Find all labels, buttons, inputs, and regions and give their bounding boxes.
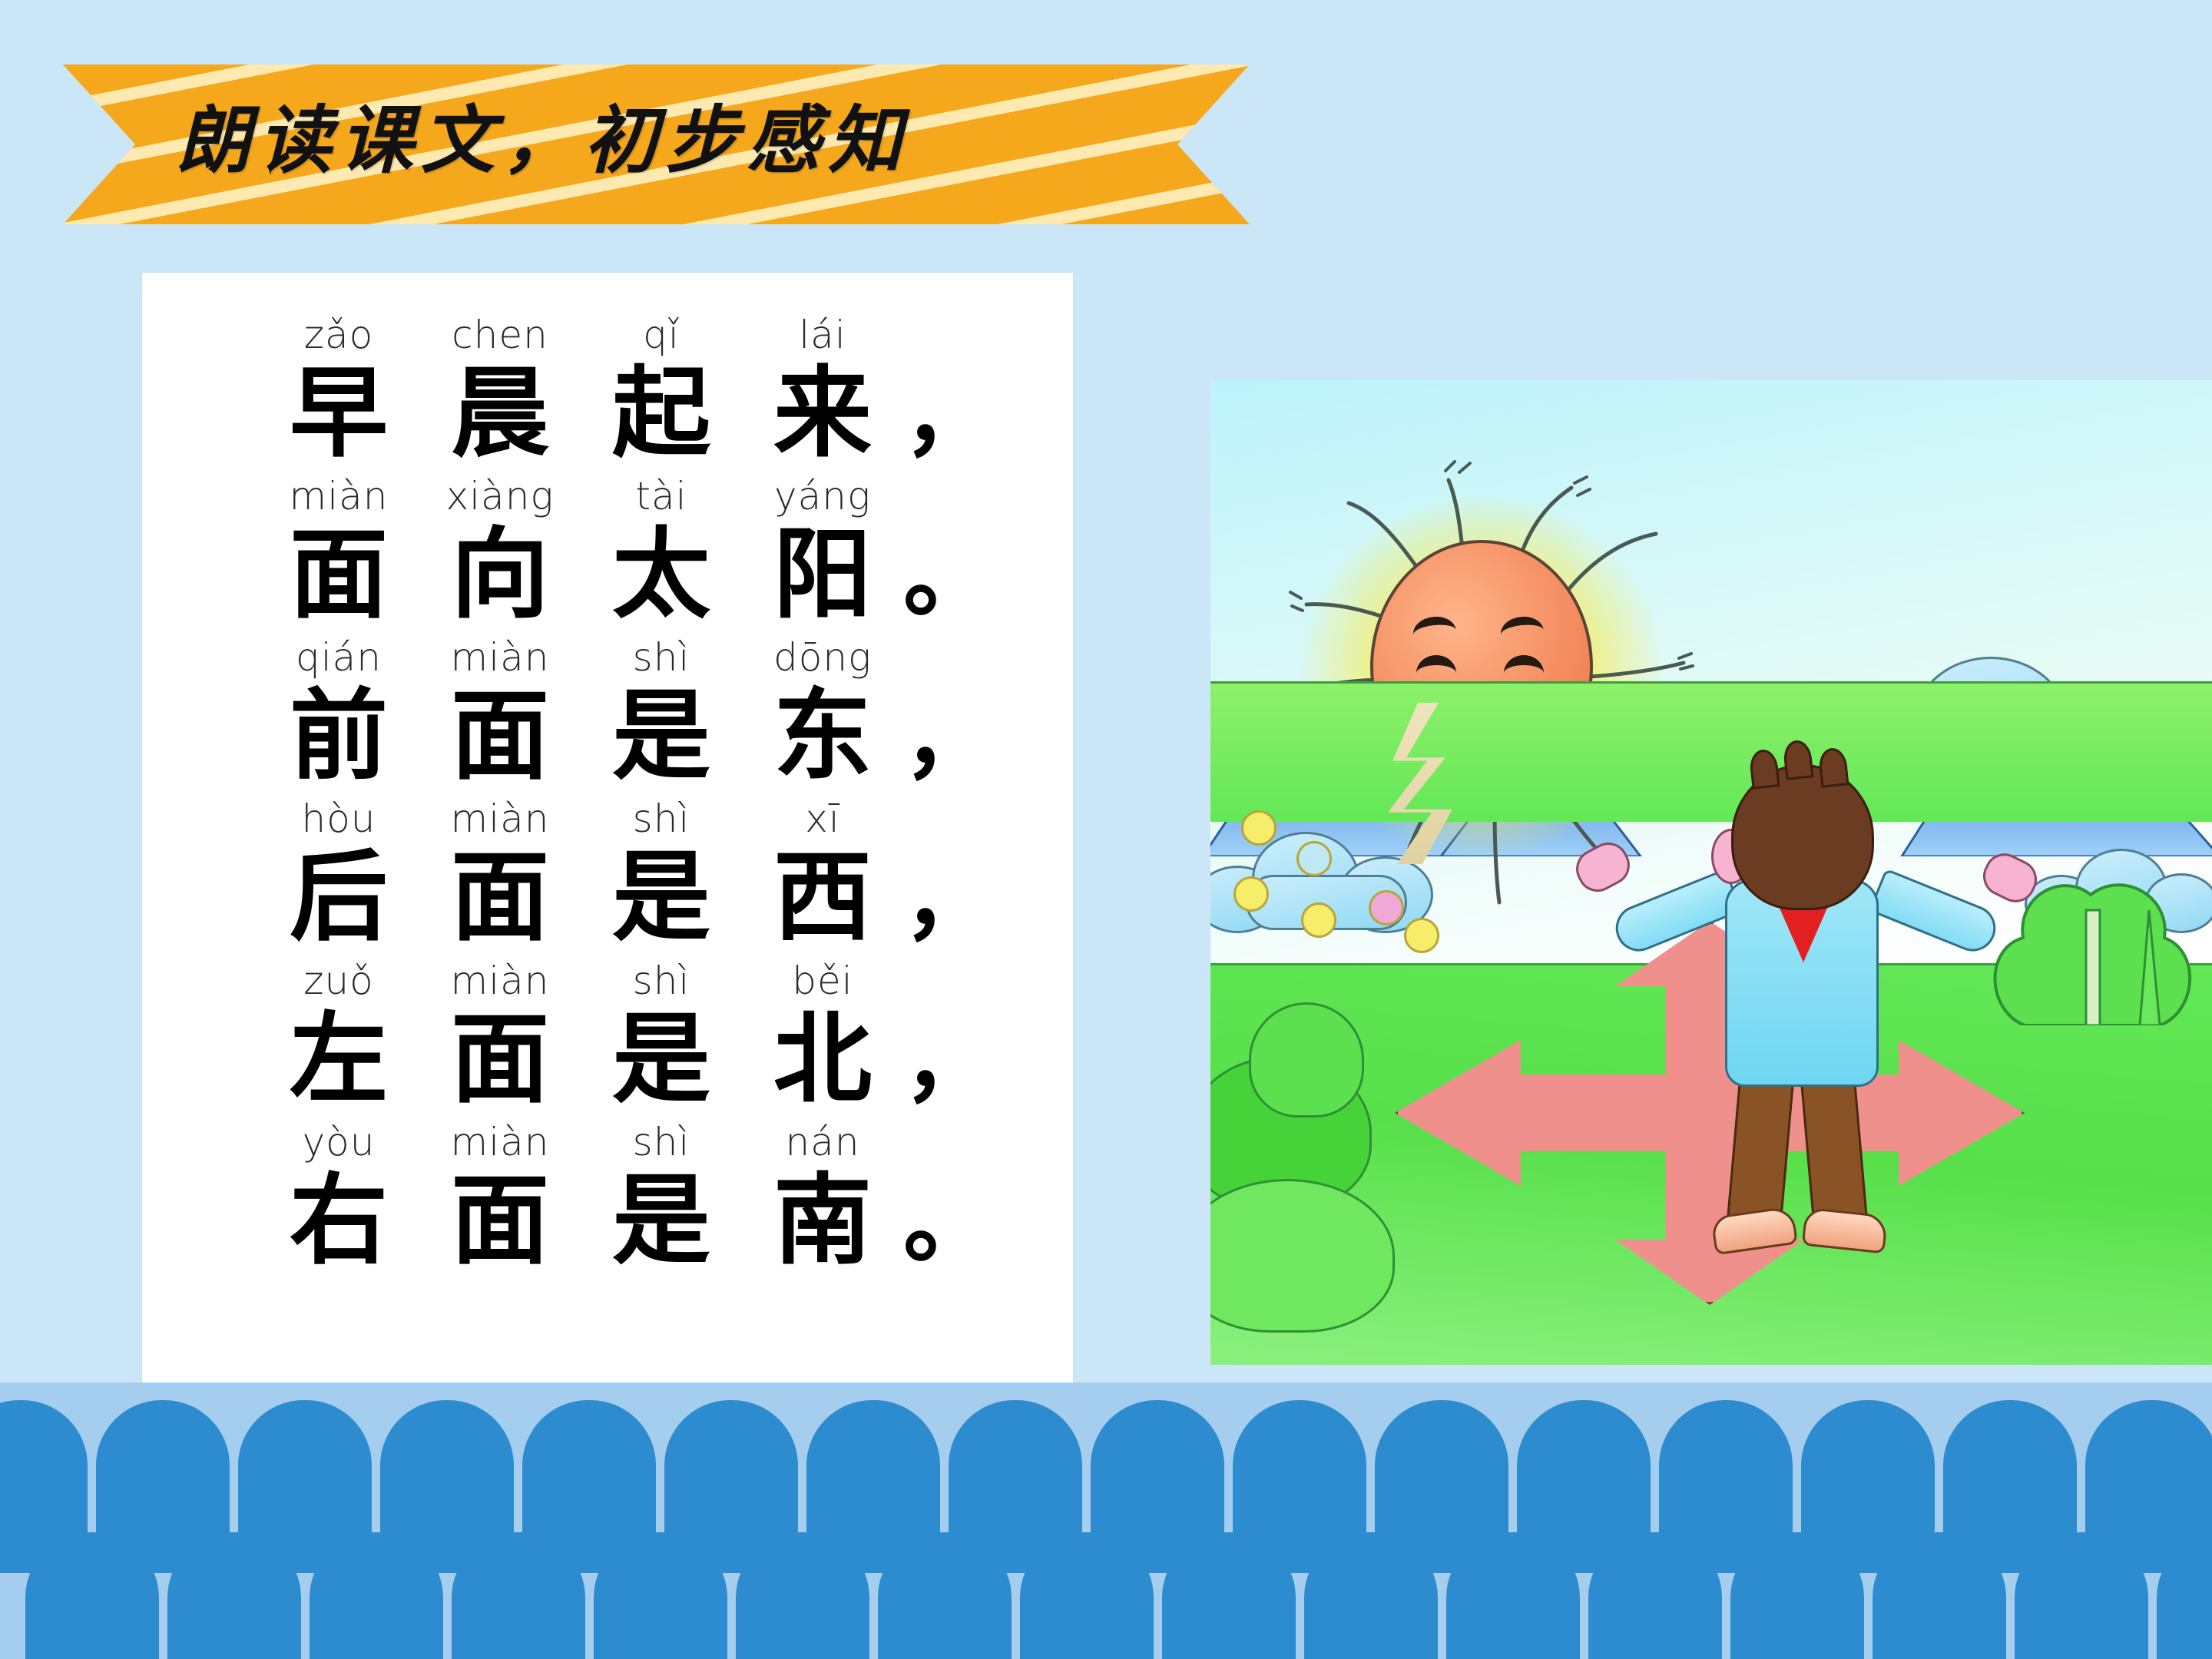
scallop-shape bbox=[1446, 1532, 1580, 1659]
hanzi-char: 右 bbox=[258, 1161, 419, 1281]
hanzi-char: 是 bbox=[581, 838, 742, 958]
pinyin-syllable: xī bbox=[742, 796, 903, 841]
hanzi-char: 晨 bbox=[419, 354, 581, 474]
boy-right-shoe bbox=[1802, 1207, 1889, 1253]
hanzi-char: 前 bbox=[258, 677, 419, 796]
bush bbox=[1249, 1002, 1364, 1118]
pinyin-syllable: miàn bbox=[258, 474, 419, 518]
scallop-shape bbox=[1873, 1532, 2006, 1659]
hanzi-char: 太 bbox=[581, 515, 742, 635]
illustration-image bbox=[1210, 380, 2212, 1365]
sun-left-brow bbox=[1412, 614, 1458, 651]
verse-line: yòu miàn shì nán 右 面 是 南 。 bbox=[142, 1120, 1073, 1281]
punctuation: 。 bbox=[903, 523, 974, 634]
hanzi-char: 面 bbox=[419, 1161, 581, 1281]
pinyin-syllable: tài bbox=[581, 474, 742, 518]
sun-right-brow bbox=[1499, 614, 1545, 651]
scallop-shape bbox=[2015, 1532, 2148, 1659]
hanzi-char: 是 bbox=[581, 1000, 742, 1120]
hanzi-char: 面 bbox=[419, 838, 581, 958]
hanzi-row: 前 面 是 东 ， bbox=[142, 677, 1073, 796]
pinyin-syllable: shì bbox=[581, 796, 742, 841]
hanzi-char: 向 bbox=[419, 515, 581, 635]
flower bbox=[1296, 841, 1332, 876]
pinyin-syllable: miàn bbox=[419, 1120, 581, 1164]
flower bbox=[1241, 810, 1277, 846]
scallop-shape bbox=[594, 1532, 727, 1659]
scallop-shape bbox=[1588, 1532, 1722, 1659]
hanzi-row: 后 面 是 西 ， bbox=[142, 838, 1073, 958]
hanzi-row: 右 面 是 南 。 bbox=[142, 1161, 1073, 1281]
pinyin-syllable: yòu bbox=[258, 1120, 419, 1164]
scallop-shape bbox=[1304, 1532, 1438, 1659]
punctuation: ， bbox=[903, 362, 974, 472]
verse-line: miàn xiàng tài yáng 面 向 太 阳 。 bbox=[142, 474, 1073, 635]
hanzi-char: 面 bbox=[258, 515, 419, 635]
punctuation: ， bbox=[903, 846, 974, 956]
boy-hair bbox=[1731, 764, 1874, 910]
hanzi-char: 阳 bbox=[742, 515, 903, 635]
tree-cluster bbox=[1979, 795, 2209, 1025]
pinyin-row: zǎo chen qǐ lái bbox=[142, 313, 1073, 357]
punctuation: ， bbox=[903, 684, 974, 795]
pinyin-row: hòu miàn shì xī bbox=[142, 796, 1073, 841]
pinyin-syllable: xiàng bbox=[419, 474, 581, 518]
flower bbox=[1369, 890, 1404, 926]
pinyin-syllable: hòu bbox=[258, 796, 419, 841]
boy-right-leg bbox=[1800, 1072, 1869, 1229]
hanzi-char: 面 bbox=[419, 677, 581, 796]
flower bbox=[1404, 918, 1439, 953]
pinyin-row: zuǒ miàn shì běi bbox=[142, 959, 1073, 1003]
flower bbox=[1233, 876, 1269, 912]
scallop-shape bbox=[1162, 1532, 1296, 1659]
hanzi-char: 面 bbox=[419, 1000, 581, 1120]
verse-line: qián miàn shì dōng 前 面 是 东 ， bbox=[142, 635, 1073, 796]
hanzi-char: 西 bbox=[742, 838, 903, 958]
pinyin-syllable: qǐ bbox=[581, 313, 742, 357]
scallop-row-front bbox=[0, 1528, 2212, 1659]
hanzi-char: 起 bbox=[581, 354, 742, 474]
pinyin-syllable: nán bbox=[742, 1120, 903, 1164]
scallop-shape bbox=[167, 1532, 301, 1659]
hanzi-char: 东 bbox=[742, 677, 903, 796]
pinyin-row: qián miàn shì dōng bbox=[142, 635, 1073, 680]
scallop-shape bbox=[736, 1532, 869, 1659]
punctuation: ， bbox=[903, 1008, 974, 1118]
scallop-shape bbox=[310, 1532, 443, 1659]
scallop-shape bbox=[2157, 1532, 2212, 1659]
hanzi-char: 后 bbox=[258, 838, 419, 958]
boy-figure bbox=[1641, 764, 1963, 1256]
hanzi-row: 面 向 太 阳 。 bbox=[142, 515, 1073, 635]
boy-left-leg bbox=[1727, 1072, 1795, 1229]
pinyin-syllable: miàn bbox=[419, 959, 581, 1003]
pinyin-row: miàn xiàng tài yáng bbox=[142, 474, 1073, 518]
verse-line: hòu miàn shì xī 后 面 是 西 ， bbox=[142, 796, 1073, 958]
hanzi-char: 是 bbox=[581, 677, 742, 796]
flower bbox=[1301, 902, 1336, 938]
pinyin-syllable: miàn bbox=[419, 796, 581, 841]
scallop-shape bbox=[25, 1532, 159, 1659]
pinyin-syllable: chen bbox=[419, 313, 581, 357]
scallop-shape bbox=[1730, 1532, 1864, 1659]
pinyin-syllable: shì bbox=[581, 635, 742, 680]
scallop-shape bbox=[878, 1532, 1012, 1659]
hanzi-char: 左 bbox=[258, 1000, 419, 1120]
boy-left-shoe bbox=[1710, 1206, 1798, 1256]
scallop-shape bbox=[1020, 1532, 1154, 1659]
verse-line: zuǒ miàn shì běi 左 面 是 北 ， bbox=[142, 959, 1073, 1120]
pinyin-syllable: dōng bbox=[742, 635, 903, 680]
hanzi-char: 是 bbox=[581, 1161, 742, 1281]
pinyin-syllable: miàn bbox=[419, 635, 581, 680]
pinyin-syllable: yáng bbox=[742, 474, 903, 518]
hanzi-char: 来 bbox=[742, 354, 903, 474]
hanzi-char: 北 bbox=[742, 1000, 903, 1120]
hanzi-char: 早 bbox=[258, 354, 419, 474]
pinyin-syllable: běi bbox=[742, 959, 903, 1003]
title-banner: 朗读课文，初步感知 bbox=[63, 65, 1250, 224]
scallop-shape bbox=[452, 1532, 585, 1659]
pinyin-syllable: lái bbox=[742, 313, 903, 357]
verse-line: zǎo chen qǐ lái 早 晨 起 来 ， bbox=[142, 313, 1073, 474]
pinyin-syllable: shì bbox=[581, 959, 742, 1003]
pinyin-syllable: zuǒ bbox=[258, 959, 419, 1003]
pinyin-syllable: qián bbox=[258, 635, 419, 680]
pinyin-syllable: shì bbox=[581, 1120, 742, 1164]
hanzi-row: 早 晨 起 来 ， bbox=[142, 354, 1073, 474]
hanzi-row: 左 面 是 北 ， bbox=[142, 1000, 1073, 1120]
hanzi-char: 南 bbox=[742, 1161, 903, 1281]
pinyin-row: yòu miàn shì nán bbox=[142, 1120, 1073, 1164]
punctuation: 。 bbox=[903, 1169, 974, 1280]
pinyin-syllable: zǎo bbox=[258, 313, 419, 357]
bottom-decoration-band bbox=[0, 1382, 2212, 1659]
page-title: 朗读课文，初步感知 bbox=[177, 104, 909, 178]
